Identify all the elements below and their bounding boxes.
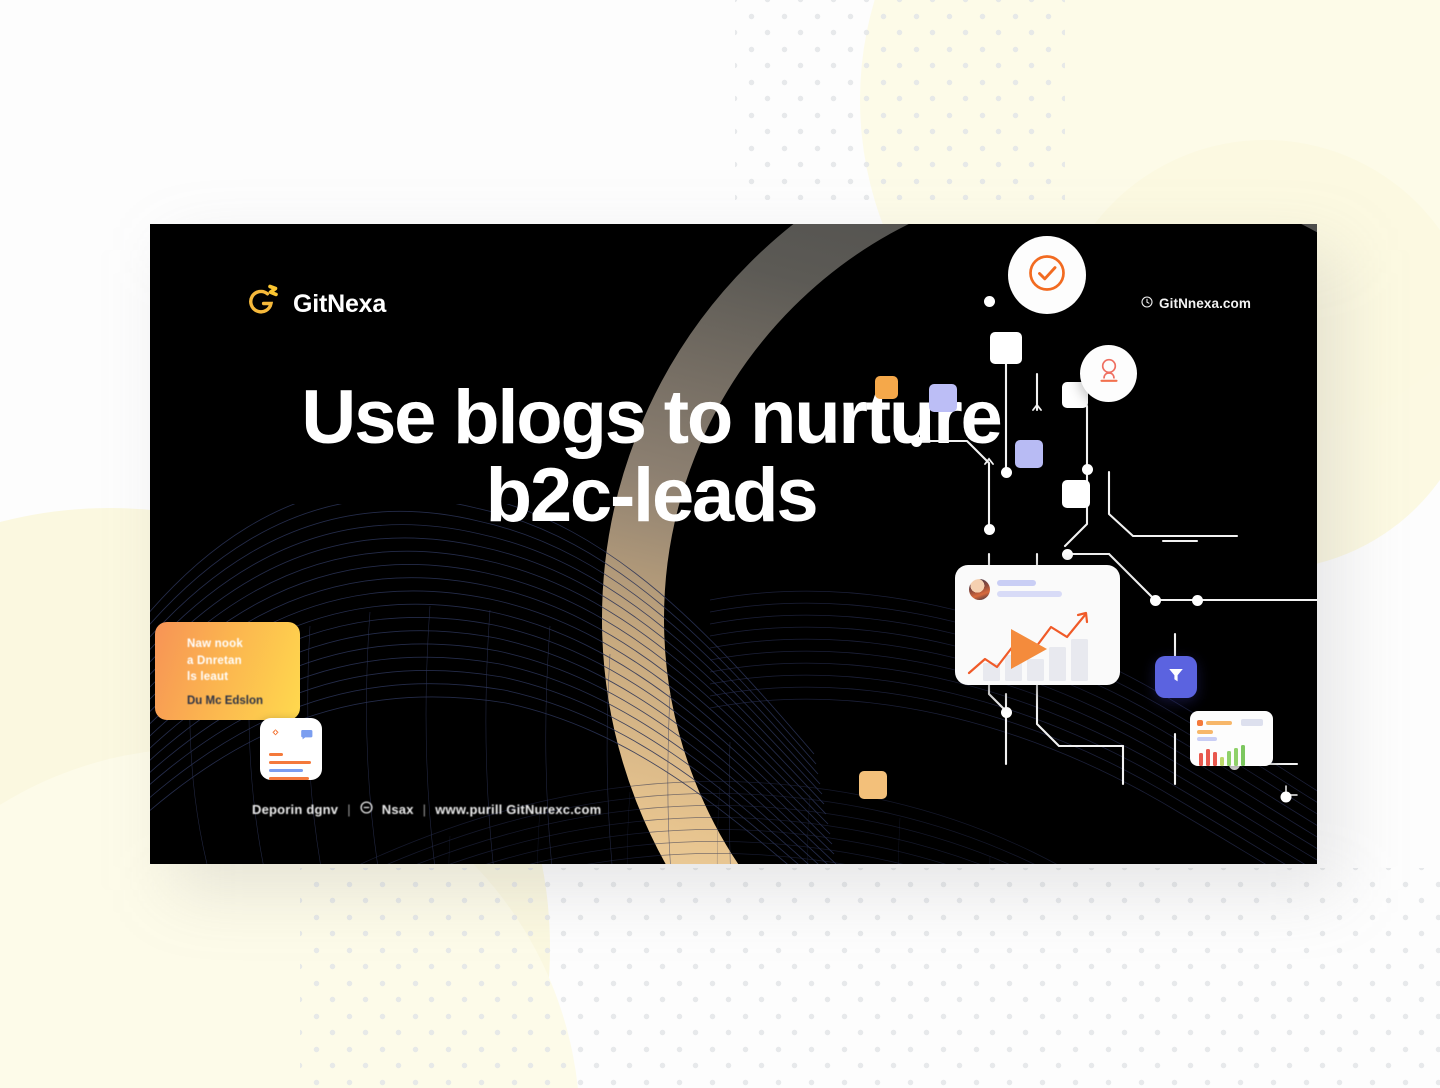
bar-2 [1206, 749, 1210, 766]
node-dot-8 [1192, 595, 1203, 606]
page-canvas: GitNexa GitNnexa.com Use blogs to nurtur… [0, 0, 1440, 1088]
headline-line-2: b2c-leads [486, 453, 817, 538]
user-avatar-icon [969, 579, 990, 600]
barchart-bars [1197, 744, 1266, 766]
promo-subtitle: Du Mc Edslon [187, 695, 284, 707]
doc-line-2 [269, 761, 311, 764]
analytics-chart [955, 605, 1120, 683]
barchart-dot-icon [1197, 720, 1203, 726]
banner-footer: Deporin dgnv | Nsax | www.purill GitNure… [252, 801, 601, 817]
funnel-filter-icon [1166, 665, 1186, 690]
analytics-card[interactable] [955, 565, 1120, 685]
analytics-subtitle-bar [997, 591, 1062, 597]
document-card[interactable] [260, 718, 322, 780]
check-badge [1008, 236, 1086, 314]
promo-card[interactable]: Naw nook a Dnretan ls leaut Du Mc Edslon [155, 622, 300, 720]
plus-diamond-icon [269, 728, 282, 746]
node-dot-6 [1062, 549, 1073, 560]
bar-7 [1241, 745, 1245, 766]
brand-logo[interactable]: GitNexa [246, 284, 386, 325]
square-white-mid-right [1062, 480, 1090, 508]
dot-pattern-top [735, 0, 1065, 200]
square-white-upper-right [1062, 382, 1088, 408]
footer-item-1: Deporin dgnv [252, 802, 338, 817]
barchart-title-bar [1206, 721, 1232, 725]
analytics-title-bar [997, 580, 1036, 586]
chat-bubble-icon [300, 728, 313, 746]
footer-item-2: Nsax [382, 802, 414, 817]
doc-line-4 [269, 777, 309, 780]
node-dot-9 [1001, 707, 1012, 718]
dot-pattern-bottom [300, 868, 1440, 1088]
footer-item-3: www.purill GitNurexc.com [435, 802, 601, 817]
doc-line-1 [269, 753, 283, 756]
bar-3 [1213, 752, 1217, 766]
footer-separator-2: | [423, 802, 427, 817]
clock-circle-icon [1141, 296, 1153, 311]
node-dot-3 [1082, 464, 1093, 475]
network-graphic [897, 224, 1317, 864]
barchart-tag-bar [1241, 719, 1263, 726]
bar-1 [1199, 753, 1203, 766]
bottom-right-node [1275, 784, 1309, 815]
top-right-url[interactable]: GitNnexa.com [1141, 296, 1251, 311]
node-dot-7 [1150, 595, 1161, 606]
bar-5 [1227, 751, 1231, 766]
promo-line-1: Naw nook [187, 636, 284, 653]
barchart-sub-bar-2 [1197, 737, 1217, 741]
funnel-tile[interactable] [1155, 656, 1197, 698]
hero-banner: GitNexa GitNnexa.com Use blogs to nurtur… [150, 224, 1317, 864]
node-connection-lines [897, 224, 1317, 864]
barchart-sub-bar-1 [1197, 730, 1213, 734]
barchart-card[interactable] [1190, 711, 1273, 766]
person-badge [1080, 345, 1137, 402]
footer-separator-1: | [347, 802, 351, 817]
doc-line-3 [269, 769, 303, 772]
bar-4 [1220, 757, 1224, 766]
node-dot-1 [984, 296, 995, 307]
square-orange-bottom [859, 771, 887, 799]
page-title: Use blogs to nurture b2c-leads [246, 379, 1056, 536]
promo-line-3: ls leaut [187, 669, 284, 686]
top-right-url-text: GitNnexa.com [1159, 296, 1251, 311]
decorative-arc-ring [545, 224, 1317, 864]
promo-line-2: a Dnretan [187, 653, 284, 670]
check-circle-icon [1026, 252, 1068, 299]
circle-mark-icon [360, 801, 373, 817]
brand-logo-text: GitNexa [293, 290, 386, 319]
person-avatar-icon [1094, 356, 1124, 391]
square-white-top [990, 332, 1022, 364]
bar-6 [1234, 748, 1238, 766]
headline-line-1: Use blogs to nurture [301, 375, 1000, 460]
gitnexa-g-logo-icon [246, 284, 280, 325]
